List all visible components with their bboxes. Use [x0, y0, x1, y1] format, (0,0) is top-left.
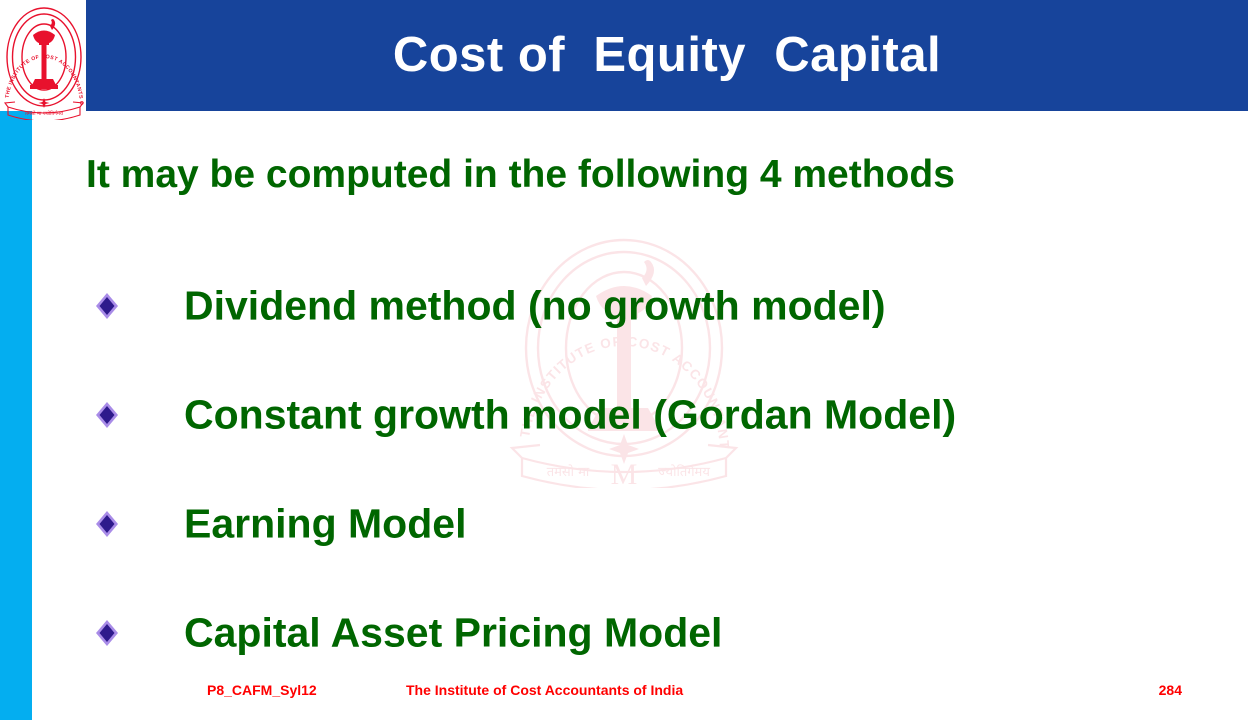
slide-title-band: Cost of Equity Capital	[86, 0, 1248, 111]
diamond-bullet-icon	[92, 509, 122, 539]
slide-footer: P8_CAFM_Syl12 The Institute of Cost Acco…	[0, 682, 1248, 704]
slide-body: It may be computed in the following 4 me…	[0, 111, 1248, 671]
diamond-bullet-icon	[92, 618, 122, 648]
footer-subject-code: P8_CAFM_Syl12	[207, 682, 317, 698]
list-item: Constant growth model (Gordan Model)	[0, 360, 1248, 469]
list-item-label: Constant growth model (Gordan Model)	[184, 391, 956, 438]
diamond-bullet-icon	[92, 291, 122, 321]
diamond-bullet-icon	[92, 400, 122, 430]
list-item-label: Earning Model	[184, 500, 466, 547]
slide: THE INSTITUTE OF COST ACCOUNTANTS OF IND…	[0, 0, 1248, 720]
institute-emblem-icon: THE INSTITUTE OF COST ACCOUNTANTS OF IND…	[2, 2, 86, 120]
lead-statement: It may be computed in the following 4 me…	[86, 153, 955, 197]
list-item: Earning Model	[0, 469, 1248, 578]
list-item: Dividend method (no growth model)	[0, 251, 1248, 360]
list-item-label: Capital Asset Pricing Model	[184, 609, 722, 656]
footer-organization: The Institute of Cost Accountants of Ind…	[406, 682, 683, 698]
list-item-label: Dividend method (no growth model)	[184, 282, 886, 329]
methods-list: Dividend method (no growth model) Consta…	[0, 251, 1248, 687]
footer-page-number: 284	[1159, 682, 1182, 698]
list-item: Capital Asset Pricing Model	[0, 578, 1248, 687]
page-title: Cost of Equity Capital	[393, 30, 941, 81]
